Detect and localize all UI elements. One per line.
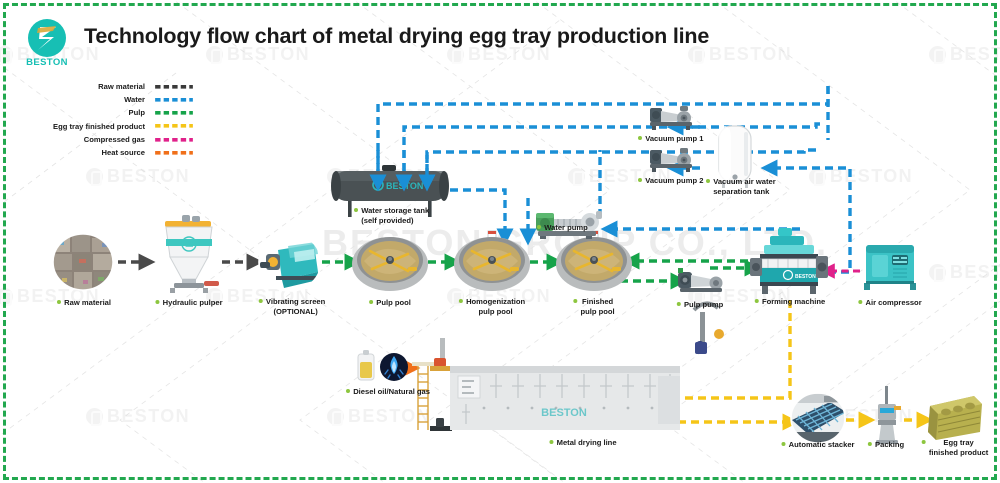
node-label-homogenization-pulp-pool: Homogenization pulp pool — [459, 297, 525, 316]
bullet-icon — [781, 442, 785, 446]
node-label-vacuum-pump-2: Vacuum pump 2 — [638, 176, 703, 186]
bullet-icon — [706, 179, 710, 183]
node-label-vacuum-pump-1: Vacuum pump 1 — [638, 134, 703, 144]
bullet-icon — [369, 300, 373, 304]
node-label-diesel-oil-natural-gas: Diesel oil/Natural gas — [346, 387, 430, 397]
node-label-forming-machine: Forming machine — [755, 297, 825, 307]
node-label-packing: Packing — [868, 440, 904, 450]
node-label-raw-material: Raw material — [57, 298, 111, 308]
bullet-icon — [346, 389, 350, 393]
flow-lines-overlay — [0, 0, 1000, 483]
node-label-vacuum-separation-tank: Vacuum air water separation tank — [706, 177, 776, 196]
node-label-hydraulic-pulper: Hydraulic pulper — [155, 298, 222, 308]
node-label-vibrating-screen: Vibrating screen (OPTIONAL) — [259, 297, 326, 316]
bullet-icon — [537, 225, 541, 229]
bullet-icon — [638, 136, 642, 140]
node-label-egg-tray-finished-product: Egg tray finished product — [922, 438, 989, 457]
bullet-icon — [755, 299, 759, 303]
node-label-water-storage-tank: Water storage tank (self provided) — [354, 206, 429, 225]
bullet-icon — [57, 300, 61, 304]
bullet-icon — [868, 442, 872, 446]
bullet-icon — [259, 299, 263, 303]
node-label-air-compressor: Air compressor — [858, 298, 921, 308]
node-label-metal-drying-line: Metal drying line — [549, 438, 616, 448]
bullet-icon — [922, 440, 926, 444]
bullet-icon — [573, 299, 577, 303]
bullet-icon — [459, 299, 463, 303]
bullet-icon — [354, 208, 358, 212]
node-label-pulp-pool: Pulp pool — [369, 298, 411, 308]
bullet-icon — [155, 300, 159, 304]
node-label-pulp-pump: Pulp pump — [677, 300, 723, 310]
bullet-icon — [549, 440, 553, 444]
bullet-icon — [638, 178, 642, 182]
bullet-icon — [677, 302, 681, 306]
bullet-icon — [858, 300, 862, 304]
flowchart-page: BESTON BESTON BESTON BESTON BESTON BESTO… — [0, 0, 1000, 483]
node-label-automatic-stacker: Automatic stacker — [781, 440, 854, 450]
node-label-water-pump: Water pump — [537, 223, 588, 233]
node-label-finished-pulp-pool: Finished pulp pool — [573, 297, 614, 316]
